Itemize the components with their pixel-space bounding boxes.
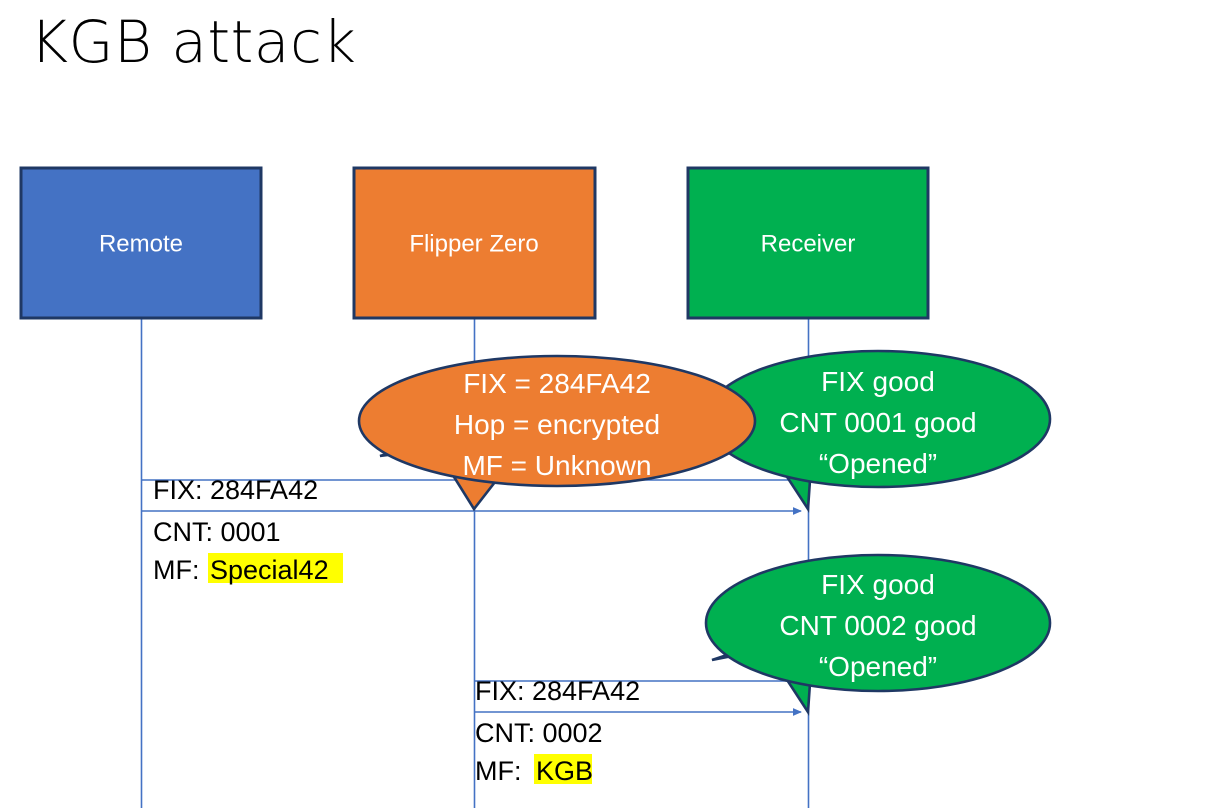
callout-receiver-1-line-3: “Opened” bbox=[819, 448, 937, 479]
message-1-line-2: CNT: 0001 bbox=[153, 517, 281, 547]
message-2-line-1: FIX: 284FA42 bbox=[475, 676, 640, 706]
actor-flipper-label: Flipper Zero bbox=[409, 230, 538, 257]
actor-receiver[interactable]: Receiver bbox=[688, 168, 928, 318]
sequence-diagram: Remote Flipper Zero Receiver FIX good CN… bbox=[0, 0, 1218, 808]
actor-receiver-label: Receiver bbox=[761, 230, 856, 257]
callout-receiver-2-line-3: “Opened” bbox=[819, 651, 937, 682]
callout-receiver-2[interactable]: FIX good CNT 0002 good “Opened” bbox=[706, 555, 1050, 712]
message-1-line-3-prefix: MF: bbox=[153, 555, 200, 585]
slide-canvas: KGB attack Remote Flipper Zero Receive bbox=[0, 0, 1218, 808]
message-1-line-1: FIX: 284FA42 bbox=[153, 475, 318, 505]
callout-receiver-2-line-2: CNT 0002 good bbox=[779, 610, 976, 641]
callout-flipper-line-1: FIX = 284FA42 bbox=[463, 368, 651, 399]
actor-flipper-zero[interactable]: Flipper Zero bbox=[354, 168, 595, 318]
callout-receiver-2-line-1: FIX good bbox=[821, 569, 935, 600]
message-2-line-3-highlight: KGB bbox=[536, 756, 593, 786]
message-2-label: FIX: 284FA42 CNT: 0002 MF: KGB bbox=[475, 676, 640, 786]
callout-receiver-1-line-1: FIX good bbox=[821, 366, 935, 397]
actor-remote[interactable]: Remote bbox=[21, 168, 261, 318]
message-2-line-2: CNT: 0002 bbox=[475, 718, 603, 748]
callout-flipper-line-2: Hop = encrypted bbox=[454, 409, 660, 440]
callout-receiver-1[interactable]: FIX good CNT 0001 good “Opened” bbox=[706, 351, 1050, 509]
message-2-line-3-prefix: MF: bbox=[475, 756, 522, 786]
callout-flipper-line-3: MF = Unknown bbox=[462, 450, 651, 481]
actor-remote-label: Remote bbox=[99, 230, 183, 257]
message-1-label: FIX: 284FA42 CNT: 0001 MF: Special42 bbox=[153, 475, 343, 585]
message-1-line-3-highlight: Special42 bbox=[210, 555, 329, 585]
callout-flipper[interactable]: FIX = 284FA42 Hop = encrypted MF = Unkno… bbox=[359, 356, 755, 509]
callout-receiver-1-line-2: CNT 0001 good bbox=[779, 407, 976, 438]
